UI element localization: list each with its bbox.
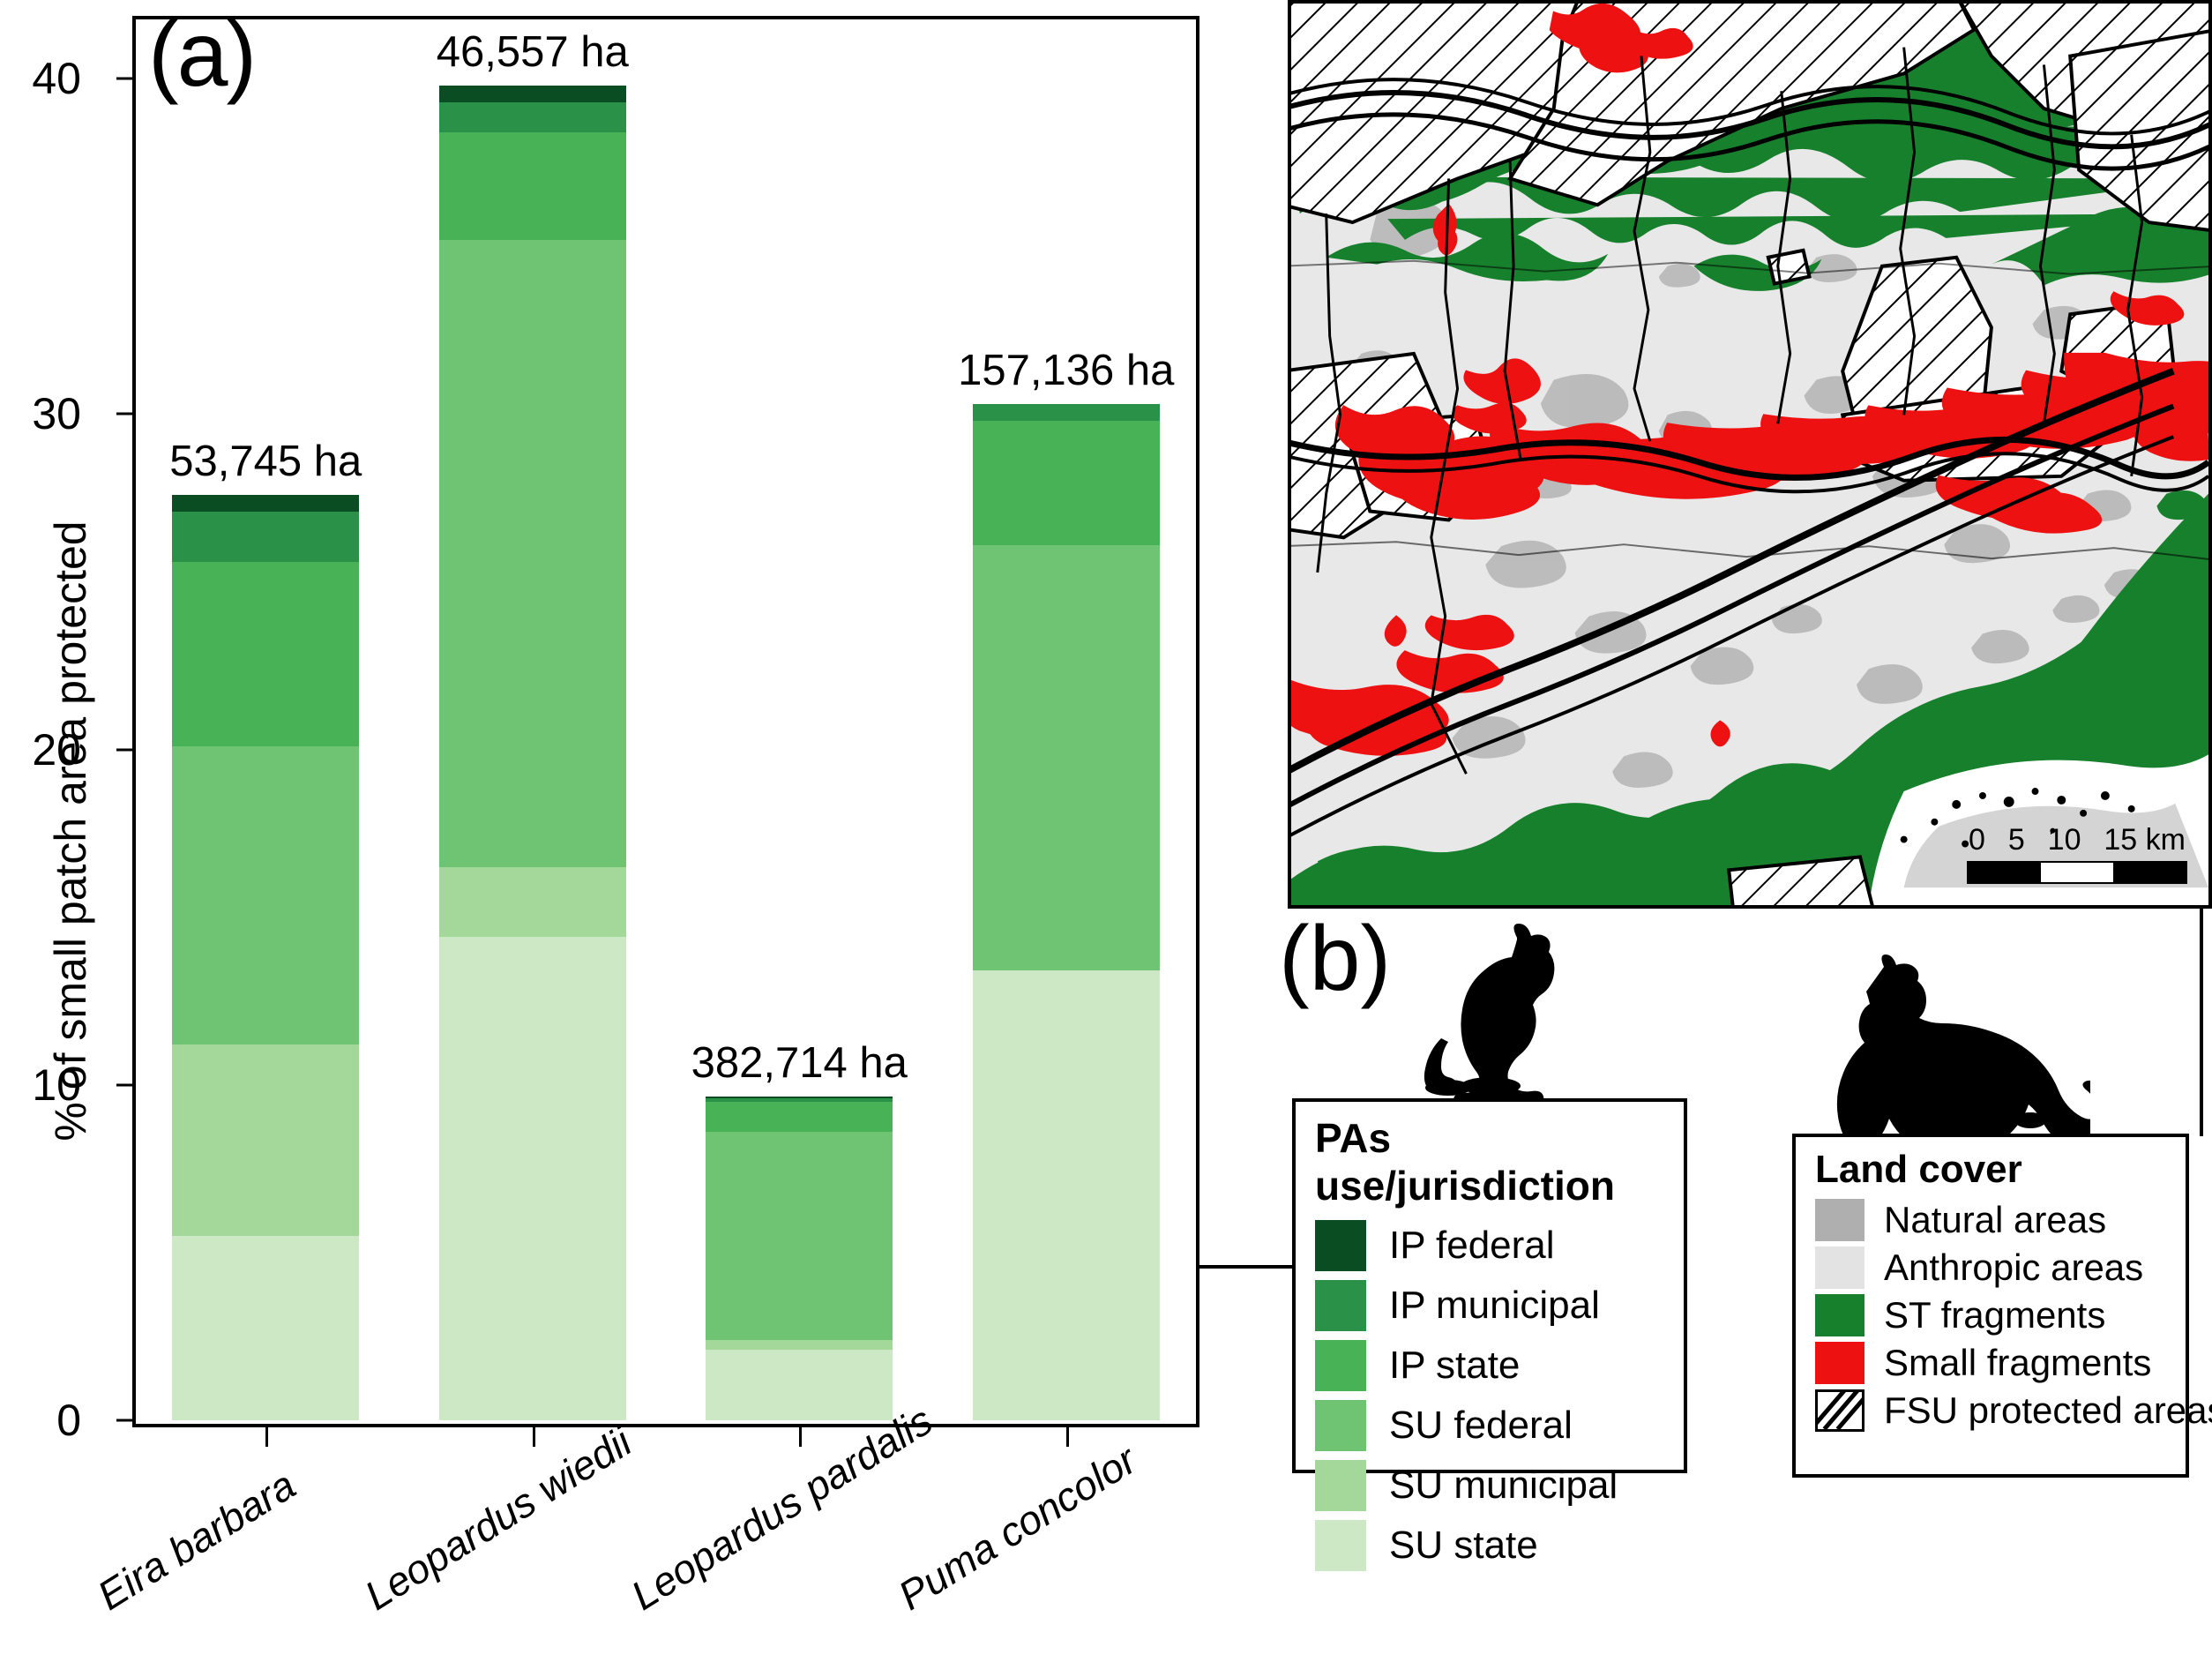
map-graphic: [1291, 4, 2208, 905]
x-axis-label: Leopardus pardalis: [623, 1396, 940, 1620]
map-legend-connector-vertical: [2200, 909, 2203, 1136]
legend-label: SU federal: [1389, 1404, 1573, 1448]
bar-segment-ip-federal[interactable]: [706, 1097, 893, 1098]
scalebar-tick: 10: [2048, 823, 2081, 857]
legend-label: IP state: [1389, 1344, 1520, 1388]
bar-segment-ip-state[interactable]: [973, 421, 1160, 545]
scalebar-tick: 5: [2008, 823, 2025, 857]
legend-swatch-su-state: [1315, 1520, 1366, 1571]
legend-swatch-natural-areas: [1815, 1199, 1865, 1241]
walking-puma-silhouette: [1799, 935, 2090, 1138]
bar-segment-su-municipal[interactable]: [172, 1044, 359, 1236]
bar-segment-su-state[interactable]: [973, 970, 1160, 1420]
legend-swatch-ip-state: [1315, 1340, 1366, 1391]
y-tick-mark: [116, 1083, 132, 1086]
bar-segment-ip-municipal[interactable]: [973, 404, 1160, 421]
x-tick-mark: [265, 1427, 268, 1447]
y-tick-label: 0: [0, 1395, 81, 1446]
legend-swatch-st-fragments: [1815, 1294, 1865, 1336]
legend-swatch-small-fragments: [1815, 1342, 1865, 1384]
legend-label: IP municipal: [1389, 1284, 1600, 1328]
legend-label: Anthropic areas: [1884, 1246, 2143, 1289]
legend-swatch-su-municipal: [1315, 1460, 1366, 1511]
scalebar-blocks: [1967, 861, 2187, 884]
y-tick-label: 10: [0, 1059, 81, 1111]
scalebar-numbers: 051015 km: [1967, 823, 2187, 857]
legend-item[interactable]: Anthropic areas: [1815, 1246, 2186, 1289]
legend-lc-title: Land cover: [1815, 1148, 2186, 1192]
x-tick-mark: [1066, 1427, 1069, 1447]
scalebar-tick: 0: [1969, 823, 1985, 857]
y-tick-label: 20: [0, 724, 81, 775]
legend-swatch-fsu-protected-areas: [1815, 1389, 1865, 1432]
x-tick-mark: [533, 1427, 535, 1447]
bar-segment-ip-municipal[interactable]: [439, 102, 626, 132]
legend-pas-use-jurisdiction: PAs use/jurisdiction IP federalIP munici…: [1292, 1098, 1687, 1473]
legend-item[interactable]: ST fragments: [1815, 1294, 2186, 1336]
bar-total-label: 53,745 ha: [80, 437, 451, 486]
bar-segment-su-state[interactable]: [439, 937, 626, 1420]
bar-segment-ip-municipal[interactable]: [172, 512, 359, 562]
legend-item[interactable]: IP federal: [1315, 1220, 1684, 1271]
land-cover-map: 051015 km: [1288, 0, 2212, 909]
y-tick-label: 30: [0, 388, 81, 439]
legend-swatch-anthropic-areas: [1815, 1246, 1865, 1289]
legend-swatch-su-federal: [1315, 1400, 1366, 1451]
sitting-cat-silhouette: [1385, 922, 1570, 1098]
bar-segment-su-state[interactable]: [706, 1350, 893, 1420]
bar-leopardus-pardalis[interactable]: [706, 16, 893, 1420]
legend-label: FSU protected areas: [1884, 1389, 2212, 1432]
y-tick-mark: [116, 78, 132, 80]
bar-segment-su-federal[interactable]: [172, 746, 359, 1044]
legend-swatch-ip-municipal: [1315, 1280, 1366, 1331]
chart-legend-connector: [1199, 1265, 1295, 1269]
legend-item[interactable]: Natural areas: [1815, 1199, 2186, 1241]
legend-land-cover: Land cover Natural areasAnthropic areasS…: [1792, 1134, 2189, 1478]
bar-segment-su-state[interactable]: [172, 1236, 359, 1420]
legend-item[interactable]: Small fragments: [1815, 1342, 2186, 1384]
bar-total-label: 157,136 ha: [881, 346, 1252, 395]
panel-a-chart: % of small patch area protected (a) 0102…: [0, 0, 1288, 1662]
x-axis-label: Puma concolor: [890, 1435, 1145, 1619]
legend-item[interactable]: SU municipal: [1315, 1460, 1684, 1511]
x-axis-label: Eira barbara: [89, 1461, 303, 1620]
bar-segment-ip-municipal[interactable]: [706, 1098, 893, 1102]
legend-pa-title: PAs use/jurisdiction: [1315, 1114, 1684, 1209]
legend-label: SU state: [1389, 1523, 1538, 1568]
bar-segment-su-municipal[interactable]: [439, 867, 626, 938]
legend-swatch-ip-federal: [1315, 1220, 1366, 1271]
panel-b-label: (b): [1279, 913, 1391, 1005]
bar-eira-barbara[interactable]: [172, 16, 359, 1420]
x-tick-mark: [799, 1427, 802, 1447]
legend-label: Small fragments: [1884, 1342, 2151, 1384]
scalebar-tick: 15 km: [2104, 823, 2186, 857]
bar-segment-su-federal[interactable]: [439, 240, 626, 867]
x-axis-label: Leopardus wiedii: [356, 1418, 639, 1620]
bar-puma-concolor[interactable]: [973, 16, 1160, 1420]
legend-item[interactable]: SU state: [1315, 1520, 1684, 1571]
legend-label: SU municipal: [1389, 1464, 1618, 1508]
legend-item[interactable]: SU federal: [1315, 1400, 1684, 1451]
y-tick-label: 40: [0, 53, 81, 104]
legend-item[interactable]: IP state: [1315, 1340, 1684, 1391]
bar-segment-ip-federal[interactable]: [172, 495, 359, 512]
bar-segment-su-federal[interactable]: [706, 1132, 893, 1340]
bar-total-label: 46,557 ha: [347, 27, 718, 77]
bar-total-label: 382,714 ha: [614, 1038, 984, 1088]
bar-segment-su-municipal[interactable]: [706, 1340, 893, 1350]
legend-label: ST fragments: [1884, 1294, 2105, 1336]
legend-item[interactable]: IP municipal: [1315, 1280, 1684, 1331]
bar-segment-ip-state[interactable]: [439, 132, 626, 240]
bar-segment-ip-state[interactable]: [706, 1102, 893, 1132]
legend-label: IP federal: [1389, 1224, 1555, 1268]
y-tick-mark: [116, 748, 132, 751]
bar-segment-su-federal[interactable]: [973, 545, 1160, 971]
y-tick-mark: [116, 1419, 132, 1422]
map-scalebar: 051015 km: [1967, 823, 2187, 884]
legend-item[interactable]: FSU protected areas: [1815, 1389, 2186, 1432]
bar-segment-ip-state[interactable]: [172, 562, 359, 746]
legend-label: Natural areas: [1884, 1199, 2106, 1241]
bar-segment-ip-federal[interactable]: [439, 86, 626, 102]
y-tick-mark: [116, 413, 132, 415]
bar-leopardus-wiedii[interactable]: [439, 16, 626, 1420]
